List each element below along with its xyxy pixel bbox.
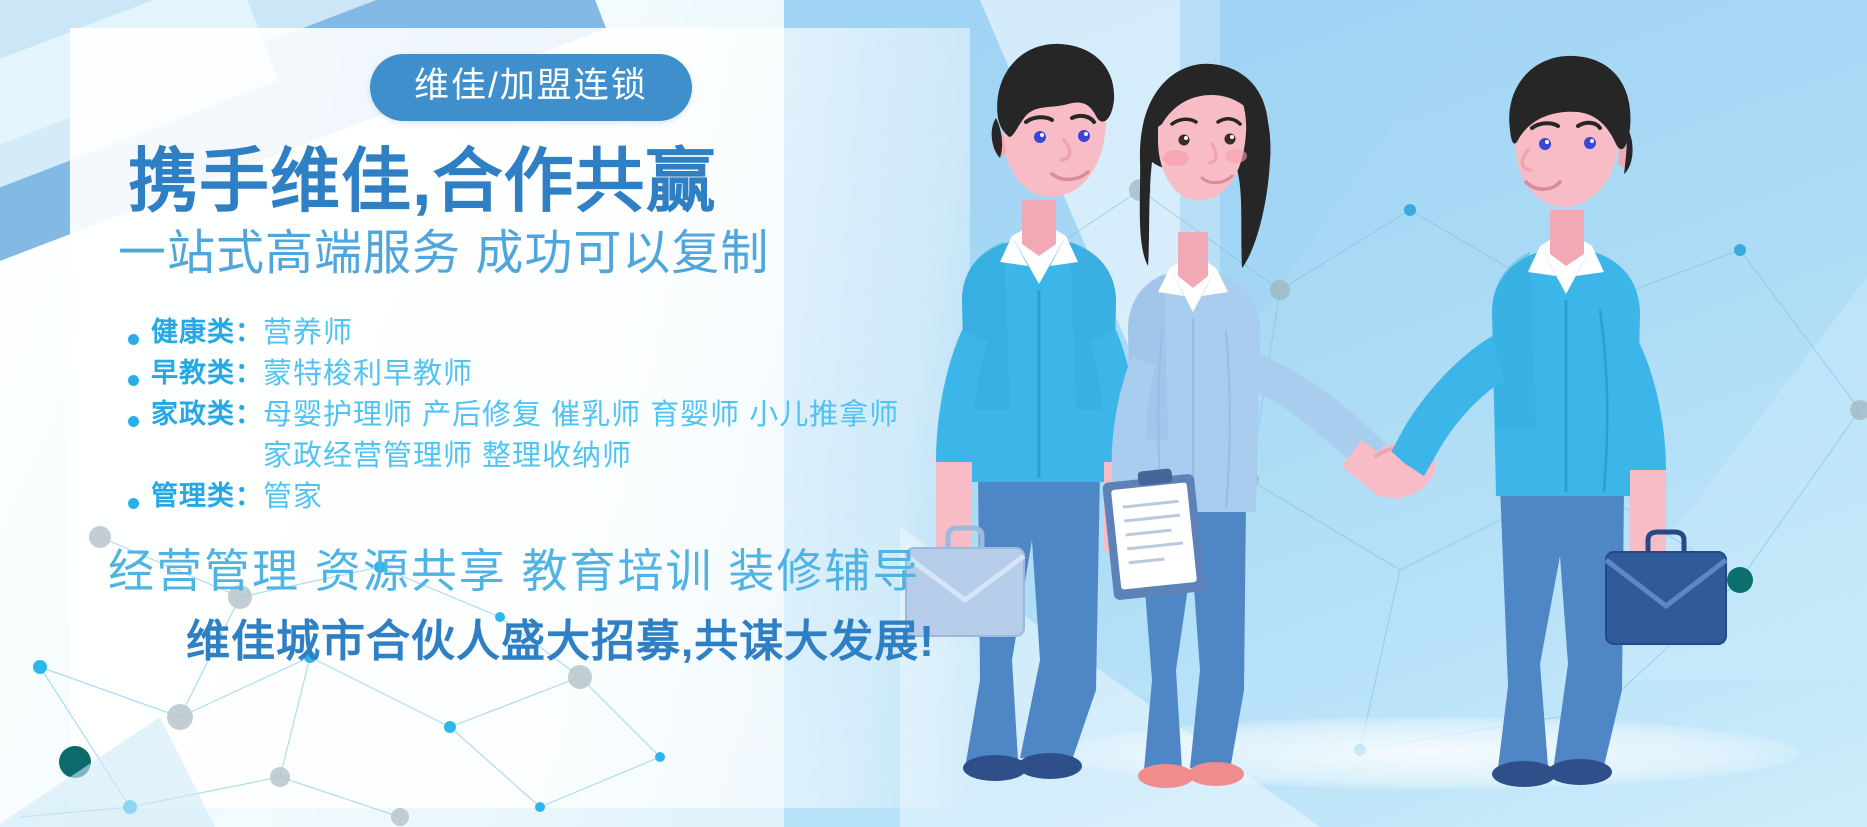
banner-copy: 维佳/加盟连锁 携手维佳,合作共赢 一站式高端服务 成功可以复制 健康类： 营养… <box>0 0 1000 827</box>
figure-right-man <box>1370 56 1726 787</box>
clipboard <box>1102 468 1206 600</box>
figure-center-woman <box>1102 64 1400 788</box>
category-items: 营养师 <box>263 318 353 350</box>
category-items: 管家 <box>263 482 323 514</box>
list-item-continuation: 家政类： 家政经营管理师 整理收纳师 <box>128 441 958 473</box>
headline: 携手维佳,合作共赢 <box>128 146 716 216</box>
services-line: 经营管理 资源共享 教育培训 装修辅导 <box>108 548 920 594</box>
list-item: 家政类： 母婴护理师 产后修复 催乳师 育婴师 小儿推拿师 <box>128 400 958 432</box>
bullet-dot-icon <box>128 375 139 386</box>
category-items: 家政经营管理师 整理收纳师 <box>263 441 632 473</box>
list-item: 管理类： 管家 <box>128 482 958 514</box>
promotional-banner: 维佳/加盟连锁 携手维佳,合作共赢 一站式高端服务 成功可以复制 健康类： 营养… <box>0 0 1867 827</box>
subheadline: 一站式高端服务 成功可以复制 <box>118 230 769 278</box>
category-label: 健康类： <box>151 318 263 348</box>
category-label: 早教类： <box>151 359 263 389</box>
category-label: 管理类： <box>151 482 263 512</box>
people-illustration <box>900 0 1867 827</box>
bullet-dot-icon <box>128 498 139 509</box>
list-item: 健康类： 营养师 <box>128 318 958 350</box>
list-item: 早教类： 蒙特梭利早教师 <box>128 359 958 391</box>
category-label: 家政类： <box>151 400 263 430</box>
bullet-dot-icon <box>128 334 139 345</box>
call-to-action-line: 维佳城市合伙人盛大招募,共谋大发展! <box>186 620 935 664</box>
bullet-dot-icon <box>128 416 139 427</box>
category-list: 健康类： 营养师 早教类： 蒙特梭利早教师 家政类： 母婴护理师 产后修复 催乳… <box>128 318 958 522</box>
brand-badge[interactable]: 维佳/加盟连锁 <box>370 54 692 121</box>
category-items: 母婴护理师 产后修复 催乳师 育婴师 小儿推拿师 <box>263 400 899 432</box>
category-items: 蒙特梭利早教师 <box>263 359 473 391</box>
